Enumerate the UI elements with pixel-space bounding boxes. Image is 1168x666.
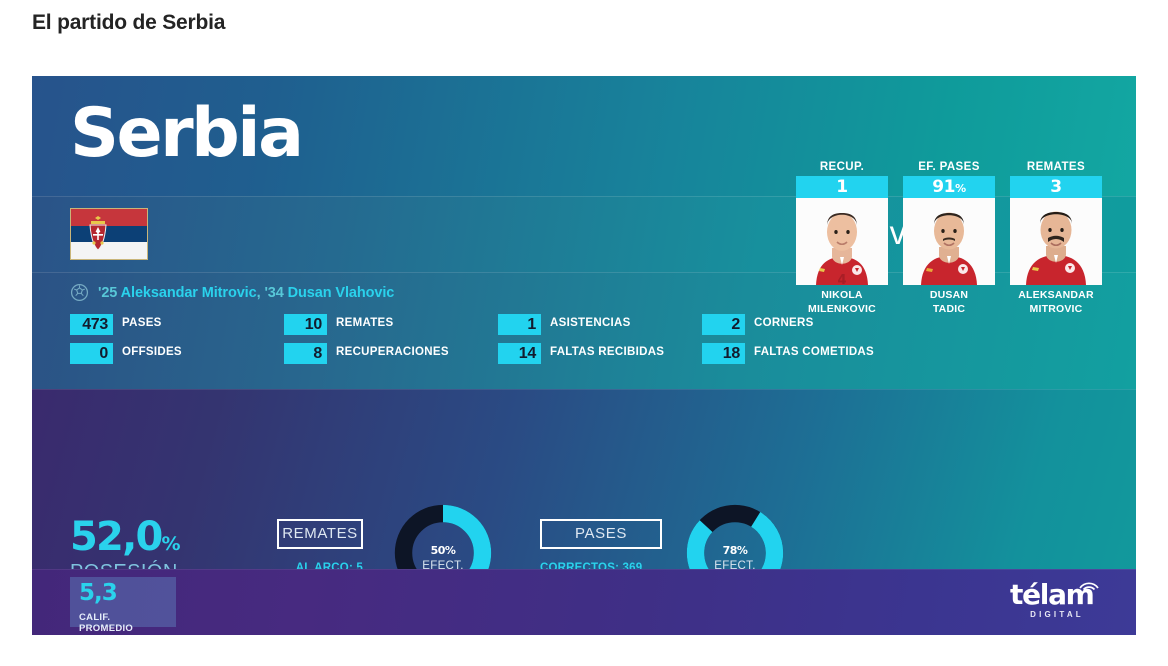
player-name: ALEKSANDAR MITROVIC [1010,289,1102,316]
svg-text:4: 4 [837,273,846,285]
stat-label: CORNERS [754,314,814,330]
player-stat-number: 3 [1050,177,1061,197]
stat-value: 10 [284,314,327,335]
donut-number: 78 [723,544,737,557]
goal-1-player: Aleksandar Mitrovic [121,285,257,301]
player-stat-category: EF. PASES [903,161,995,173]
logo-subtitle: DIGITAL [1010,610,1102,619]
stat-item: 2CORNERS [702,314,962,335]
top-players-row: RECUP. 1 4 NIK [796,161,1102,316]
stat-item: 8RECUPERACIONES [284,343,498,364]
stat-label: ASISTENCIAS [550,314,631,330]
donut-unit: % [445,544,456,557]
average-rating-badge: 5,3 CALIF. PROMEDIO [70,577,176,627]
stat-value: 8 [284,343,327,364]
stat-label: RECUPERACIONES [336,343,449,359]
possession-unit: % [162,533,181,555]
flag-stripe-blue [71,226,147,243]
average-rating-label: CALIF. PROMEDIO [79,612,167,634]
donut-unit: % [737,544,748,557]
player-stat-category: RECUP. [796,161,888,173]
player-stat-number: 1 [836,177,847,197]
player-portrait-illustration [1010,198,1102,285]
stat-item: 0OFFSIDES [70,343,284,364]
flag-stripe-white [71,242,147,259]
shots-box-label: REMATES [277,519,363,549]
player-stat-value: 3 [1010,176,1102,198]
player-stat-number: 91 [932,177,955,197]
player-card-mitrovic: REMATES 3 ALE [1010,161,1102,316]
possession-value: 52,0% [70,517,180,557]
player-name: NIKOLA MILENKOVIC [796,289,888,316]
average-rating-value: 5,3 [79,582,167,605]
page-title: El partido de Serbia [32,11,225,35]
scorers-text: '25 Aleksandar Mitrovic, '34 Dusan Vlaho… [98,285,394,301]
donut-value: 78% [723,535,748,559]
stat-value: 2 [702,314,745,335]
stat-value: 18 [702,343,745,364]
stat-value: 14 [498,343,541,364]
wifi-arc-icon [1078,577,1100,593]
donut-value: 50% [431,535,456,559]
flag-stripe-red [71,209,147,226]
team-stats-grid: 473PASES 10REMATES 1ASISTENCIAS 2CORNERS… [70,314,1100,364]
stat-item: 18FALTAS COMETIDAS [702,343,962,364]
stat-item: 14FALTAS RECIBIDAS [498,343,702,364]
stat-label: PASES [122,314,162,330]
player-name: DUSAN TADIC [903,289,995,316]
scorers-separator: , [257,285,261,301]
player-photo: 4 [796,198,888,285]
telam-digital-logo[interactable]: télam DIGITAL [1010,581,1102,625]
stat-value: 0 [70,343,113,364]
player-stat-value: 1 [796,176,888,198]
player-photo [1010,198,1102,285]
match-infographic-card: Serbia 2-3 vs. SUI [32,76,1136,635]
stat-label: FALTAS COMETIDAS [754,343,874,359]
donut-number: 50 [431,544,445,557]
team-name-heading: Serbia [70,100,302,168]
stat-item: 473PASES [70,314,284,335]
stat-value: 1 [498,314,541,335]
player-stat-unit: % [955,182,966,195]
stat-label: FALTAS RECIBIDAS [550,343,664,359]
stat-value: 473 [70,314,113,335]
player-stat-category: REMATES [1010,161,1102,173]
stat-label: REMATES [336,314,393,330]
footer-band: 5,3 CALIF. PROMEDIO télam DIGITAL [32,569,1136,635]
goal-1-minute: '25 [98,285,117,301]
player-card-milenkovic: RECUP. 1 4 NIK [796,161,888,316]
player-portrait-illustration [903,198,995,285]
goal-2-player: Dusan Vlahovic [288,285,395,301]
player-card-tadic: EF. PASES 91% [903,161,995,316]
player-photo [903,198,995,285]
player-stat-value: 91% [903,176,995,198]
divider [32,569,1136,570]
passes-box-label: PASES [540,519,662,549]
possession-number: 52,0 [70,514,162,560]
soccer-ball-icon [70,283,89,302]
goal-2-minute: '34 [264,285,283,301]
serbia-coat-of-arms-icon [87,214,109,256]
player-portrait-illustration: 4 [796,198,888,285]
divider [32,389,1136,390]
stat-label: OFFSIDES [122,343,182,359]
stat-item: 10REMATES [284,314,498,335]
stat-item: 1ASISTENCIAS [498,314,702,335]
serbia-flag-icon [70,208,148,260]
goal-scorers: '25 Aleksandar Mitrovic, '34 Dusan Vlaho… [70,283,394,302]
